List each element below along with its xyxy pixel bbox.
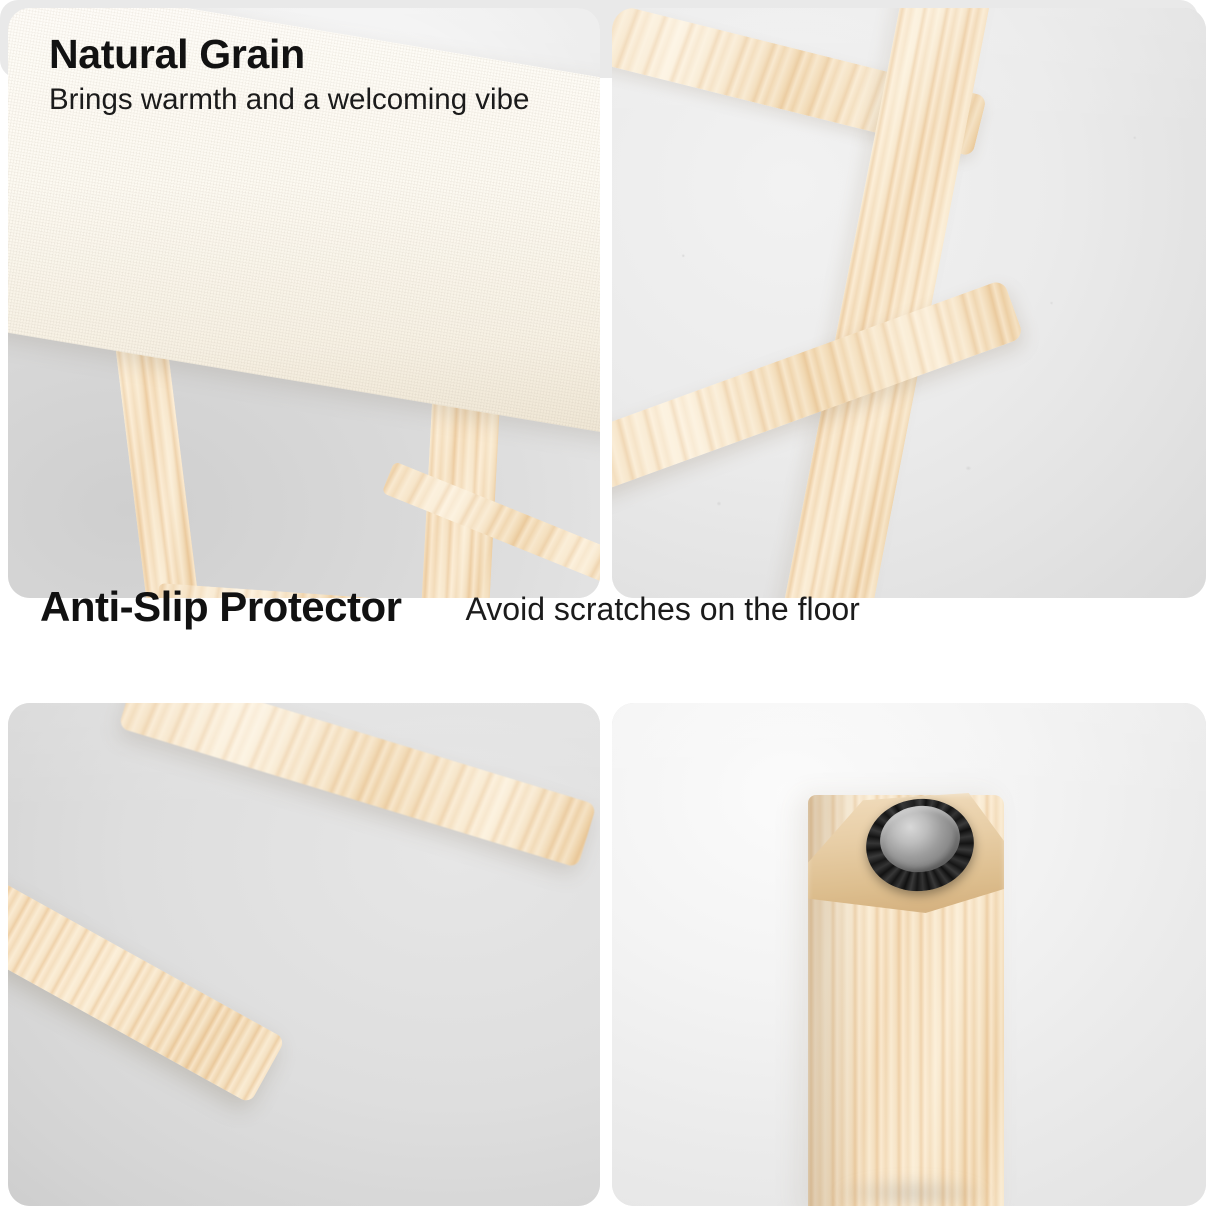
infographic-sheet: Natural Grain Brings warmth and a welcom… — [0, 0, 1214, 1214]
banner-heading: Anti-Slip Protector — [40, 583, 402, 631]
banner-subheading: Avoid scratches on the floor — [466, 591, 860, 628]
anti-slip-protector-banner: Anti-Slip Protector Avoid scratches on t… — [0, 0, 1198, 78]
banner-caption: Anti-Slip Protector Avoid scratches on t… — [0, 0, 1214, 1214]
